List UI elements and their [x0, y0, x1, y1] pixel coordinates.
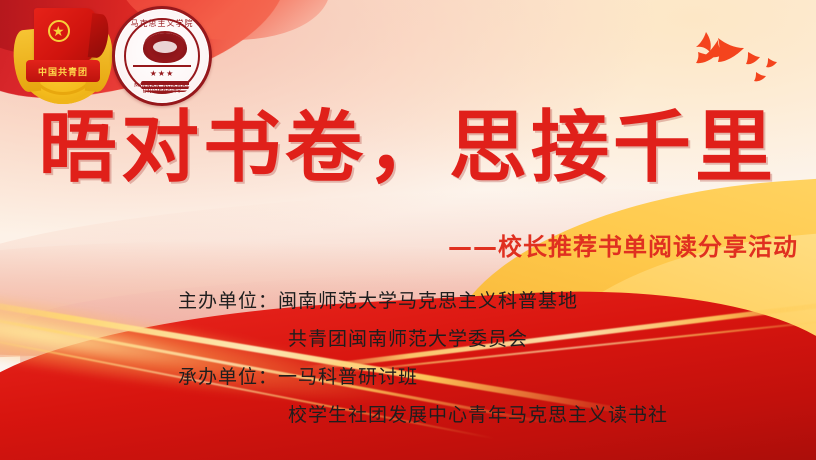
birds-svg — [660, 22, 790, 92]
star-glyph: ★ — [52, 25, 65, 39]
marx-portrait-icon — [143, 33, 187, 63]
page-subtitle: ——校长推荐书单阅读分享活动 — [448, 232, 798, 262]
organizer-label-1: 主办单位： — [178, 290, 278, 312]
flying-birds-icon — [660, 22, 790, 92]
emblem-name-text: 中国共青团 — [38, 65, 88, 78]
emblem-university-name-en: MINNAN NORMAL UNIVERSITY — [115, 83, 209, 95]
organizer-line-1: 主办单位：闽南师范大学马克思主义科普基地 — [0, 282, 816, 320]
emblem-school-name: 马克思主义学院 — [115, 18, 209, 29]
organizer-line-2: 共青团闽南师范大学委员会 — [0, 320, 816, 358]
poster-canvas: ★ 中国共青团 马克思主义学院 ★★★ MINNAN NORMAL UNIVER… — [0, 0, 816, 460]
emblem-divider — [133, 65, 191, 67]
communist-youth-league-emblem-icon: ★ 中国共青团 — [14, 8, 112, 106]
organizer-name-2: 共青团闽南师范大学委员会 — [288, 328, 528, 350]
page-title: 晤对书卷，思接千里 — [0, 104, 816, 192]
emblem-group: ★ 中国共青团 马克思主义学院 ★★★ MINNAN NORMAL UNIVER… — [8, 4, 218, 108]
organizer-line-3: 承办单位：一马科普研讨班 — [0, 358, 816, 396]
organizer-line-4: 校学生社团发展中心青年马克思主义读书社 — [0, 396, 816, 434]
organizer-label-3: 承办单位： — [178, 366, 278, 388]
emblem-name-band: 中国共青团 — [26, 60, 100, 82]
organizer-name-1: 闽南师范大学马克思主义科普基地 — [278, 290, 578, 312]
organizer-name-4: 校学生社团发展中心青年马克思主义读书社 — [288, 404, 668, 426]
organizer-block: 主办单位：闽南师范大学马克思主义科普基地 共青团闽南师范大学委员会 承办单位：一… — [0, 282, 816, 434]
star-circle-icon: ★ — [48, 20, 70, 42]
organizer-name-3: 一马科普研讨班 — [278, 366, 418, 388]
minnan-normal-university-emblem-icon: 马克思主义学院 ★★★ MINNAN NORMAL UNIVERSITY — [112, 6, 212, 106]
emblem-stars: ★★★ — [115, 69, 209, 78]
